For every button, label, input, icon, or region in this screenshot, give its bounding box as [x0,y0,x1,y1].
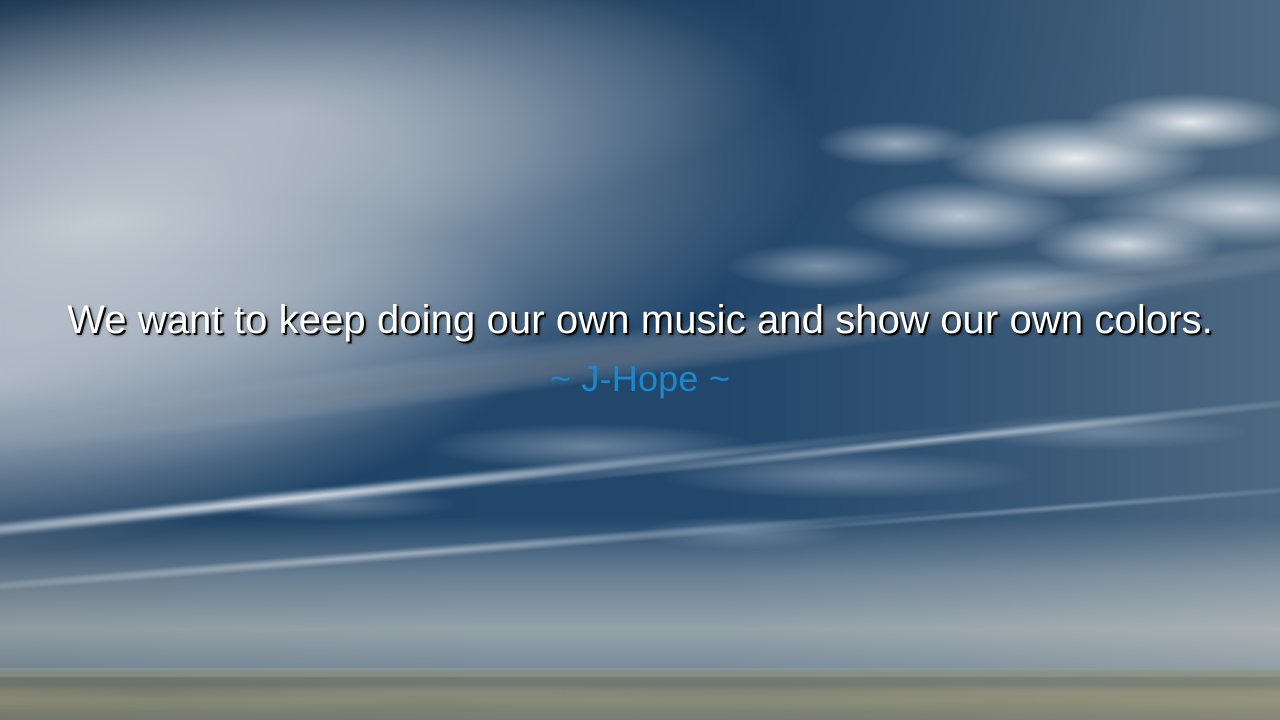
quote-attribution: ~ J-Hope ~ [24,358,1256,400]
ground-plain [0,668,1280,720]
ground-terrain-mottle [0,673,1280,720]
horizon-haze-band [0,518,1280,676]
quote-block: We want to keep doing our own music and … [0,296,1280,400]
quote-image-canvas: We want to keep doing our own music and … [0,0,1280,720]
cloud-streak-lower [0,403,1280,664]
quote-text: We want to keep doing our own music and … [24,296,1256,344]
ground-striations [0,666,1280,720]
